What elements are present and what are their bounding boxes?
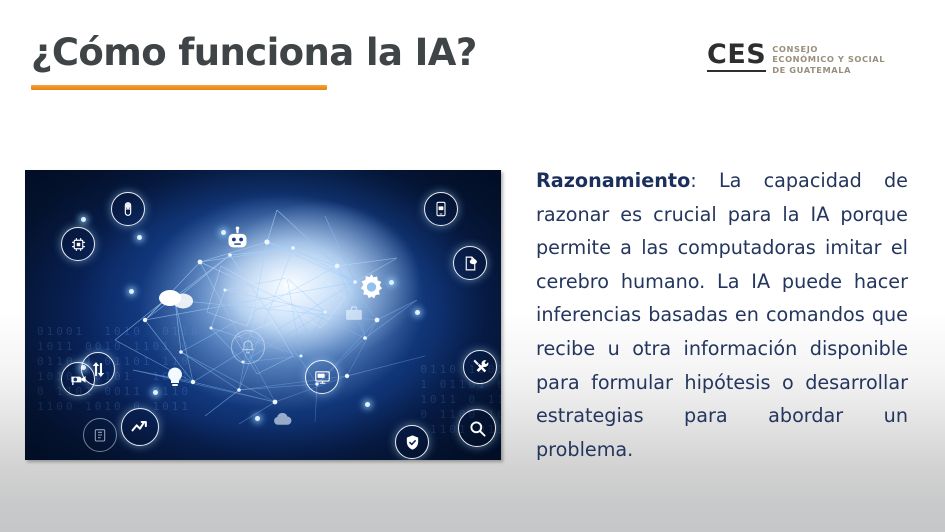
robot-icon <box>220 222 254 256</box>
logo-underline <box>707 70 766 72</box>
briefcase-icon <box>337 297 371 331</box>
lightbulb-icon <box>158 360 192 394</box>
chart-line-icon <box>121 408 159 446</box>
bell-icon <box>231 330 265 364</box>
search-icon <box>458 409 496 447</box>
glow-dot <box>255 416 260 421</box>
glow-dot <box>137 235 142 240</box>
page-title: ¿Cómo funciona la IA? <box>31 34 571 73</box>
cloud-icon <box>265 402 299 436</box>
glow-dot <box>389 280 394 285</box>
shield-check-icon <box>395 425 429 459</box>
body-lead-term: Razonamiento <box>536 169 690 192</box>
logo-line-2: ECONÓMICO Y SOCIAL <box>772 54 885 64</box>
glow-dot <box>365 402 370 407</box>
slide-root: ¿Cómo funciona la IA? CES CONSEJO ECONÓM… <box>0 0 945 532</box>
body-text: La capacidad de razonar es crucial para … <box>536 169 908 461</box>
document-chat-icon <box>453 246 487 280</box>
glow-dot <box>153 390 158 395</box>
cpu-chip-icon <box>61 227 95 261</box>
ces-logo: CES CONSEJO ECONÓMICO Y SOCIAL DE GUATEM… <box>707 41 885 75</box>
clipboard-icon <box>83 418 117 452</box>
chat-bubbles-icon <box>156 282 198 316</box>
monitor-icon <box>305 360 339 394</box>
pill-capsule-icon <box>111 192 145 226</box>
glow-dot <box>415 310 420 315</box>
glow-dot <box>81 217 86 222</box>
title-accent-rule <box>31 85 327 90</box>
glow-dot <box>129 289 134 294</box>
tools-icon <box>463 350 497 384</box>
brain-network-image: 01001 1010 0110 1011 0010 1101 0 0110 1 … <box>25 170 501 460</box>
camera-icon <box>61 362 95 396</box>
logo-line-1: CONSEJO <box>772 44 885 54</box>
mobile-device-icon <box>424 192 458 226</box>
logo-mark-text: CES <box>707 41 766 68</box>
logo-line-3: DE GUATEMALA <box>772 65 885 75</box>
logo-subtitle: CONSEJO ECONÓMICO Y SOCIAL DE GUATEMALA <box>772 41 885 75</box>
logo-mark-wrap: CES <box>707 41 766 72</box>
body-paragraph: Razonamiento: La capacidad de razonar es… <box>536 164 908 466</box>
title-block: ¿Cómo funciona la IA? <box>31 34 571 73</box>
body-separator: : <box>690 169 719 192</box>
